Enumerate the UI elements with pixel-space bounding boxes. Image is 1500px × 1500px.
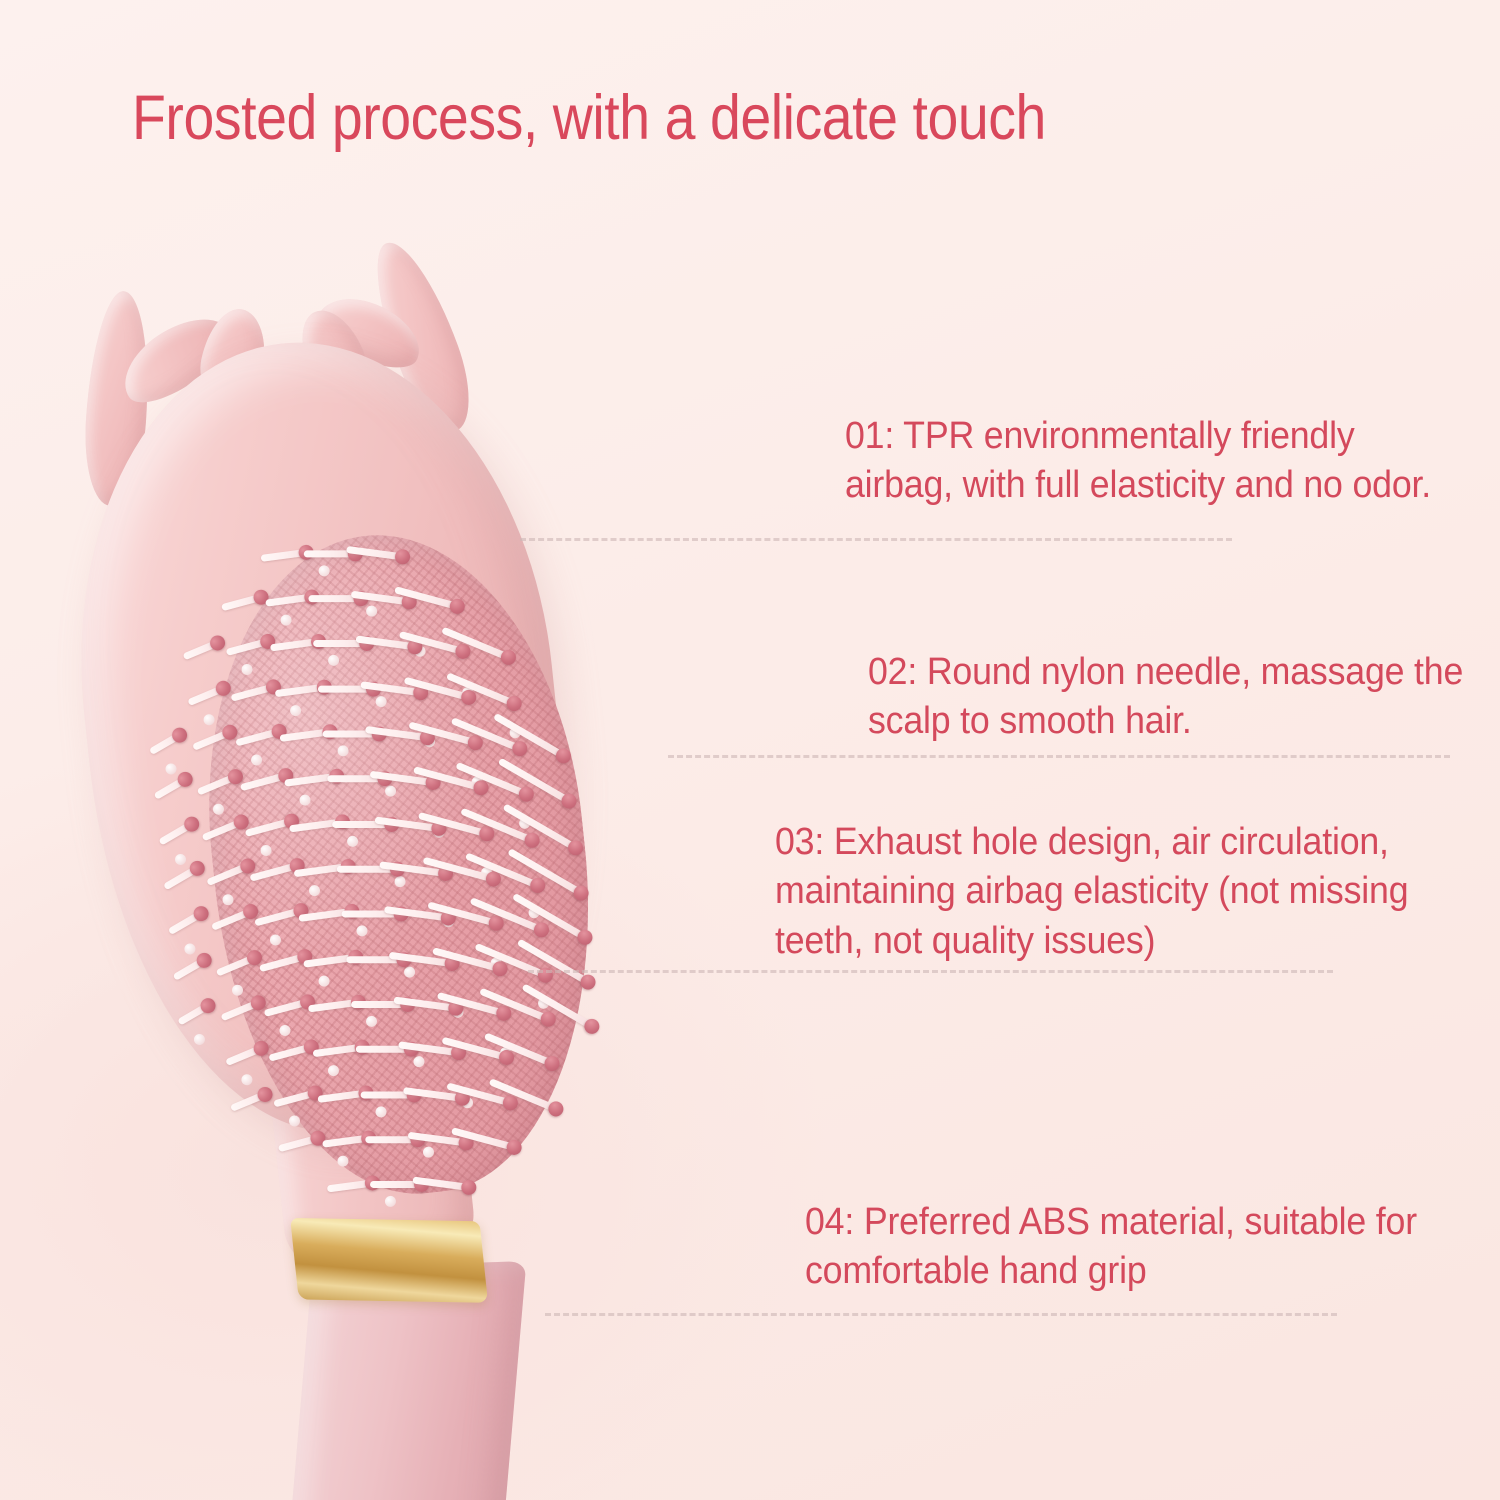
exhaust-hole-nub: [347, 835, 359, 847]
exhaust-hole-nub: [337, 745, 349, 757]
bristle: [250, 862, 301, 882]
bristle: [236, 728, 283, 747]
callout-divider-01: [520, 538, 1232, 541]
bristle: [259, 953, 307, 972]
exhaust-hole-nub: [280, 614, 292, 626]
exhaust-hole-nub: [404, 966, 416, 978]
bristle: [265, 593, 314, 606]
exhaust-hole-nub: [279, 1024, 291, 1036]
bristle: [493, 713, 567, 760]
exhaust-hole-nub: [308, 885, 320, 897]
bristle: [517, 938, 592, 986]
bristle: [216, 954, 257, 977]
callout-divider-03: [528, 970, 1333, 973]
exhaust-hole-nub: [251, 754, 263, 766]
exhaust-hole-nub: [366, 605, 378, 617]
exhaust-hole-nub: [193, 1033, 205, 1045]
bristle: [177, 1002, 211, 1026]
bristle: [172, 956, 207, 980]
exhaust-hole-nub: [203, 713, 215, 725]
callout-divider-04: [545, 1313, 1337, 1316]
bristle: [226, 638, 270, 656]
exhaust-hole-nub: [289, 1115, 301, 1127]
bristle: [231, 683, 276, 702]
exhaust-hole-nub: [174, 853, 186, 865]
bristle-ball-tip: [208, 633, 228, 653]
exhaust-hole-nub: [318, 565, 330, 577]
nylon-bristle-array: [48, 319, 598, 1154]
exhaust-hole-nub: [165, 763, 177, 775]
exhaust-hole-nub: [413, 1056, 425, 1068]
exhaust-hole-nub: [394, 876, 406, 888]
bristle: [220, 999, 260, 1021]
bristle: [240, 772, 288, 791]
feature-callout-03: 03: Exhaust hole design, air circulation…: [775, 818, 1471, 966]
bristle: [264, 998, 311, 1017]
bristle: [197, 773, 238, 796]
bristle: [273, 1089, 317, 1107]
exhaust-hole-nub: [328, 655, 340, 667]
bristle: [183, 639, 221, 660]
exhaust-hole-nub: [184, 943, 196, 955]
bristle: [211, 908, 254, 931]
gold-ferrule-band: [290, 1218, 488, 1303]
bristle: [163, 865, 200, 891]
bristle: [206, 862, 250, 886]
product-image-hair-brush: [0, 166, 869, 1500]
bristle: [187, 684, 226, 706]
exhaust-hole-nub: [318, 975, 330, 987]
bristle: [255, 907, 304, 927]
bristle: [245, 817, 294, 837]
exhaust-hole-nub: [327, 1065, 339, 1077]
exhaust-hole-nub: [289, 704, 301, 716]
exhaust-hole-nub: [356, 925, 368, 937]
feature-callout-01: 01: TPR environmentally friendly airbag,…: [845, 412, 1447, 511]
bristle: [260, 548, 307, 561]
bristle: [221, 593, 264, 611]
bristle: [269, 1043, 314, 1062]
feature-callout-04: 04: Preferred ABS material, suitable for…: [805, 1198, 1444, 1297]
infographic-canvas: Frosted process, with a delicate touch 0…: [0, 0, 1500, 1500]
exhaust-hole-nub: [375, 1106, 387, 1118]
exhaust-hole-nub: [231, 984, 243, 996]
bristle: [158, 820, 194, 845]
bristle: [225, 1045, 264, 1067]
bristle: [149, 731, 183, 755]
bristle: [192, 729, 232, 751]
bristle: [522, 983, 596, 1030]
exhaust-hole-nub: [222, 894, 234, 906]
feature-callout-02: 02: Round nylon needle, massage the scal…: [868, 648, 1470, 747]
bristle: [230, 1090, 268, 1111]
bristle: [167, 910, 203, 935]
exhaust-hole-nub: [299, 794, 311, 806]
page-title: Frosted process, with a delicate touch: [132, 85, 1241, 151]
exhaust-hole-nub: [365, 1015, 377, 1027]
bristle-ball-tip: [395, 548, 412, 565]
bristle: [317, 1089, 367, 1102]
exhaust-hole-nub: [241, 664, 253, 676]
bristle: [489, 1078, 559, 1112]
bristle: [202, 818, 245, 841]
callout-divider-02: [668, 755, 1450, 758]
bristle: [498, 758, 573, 806]
bristle: [446, 672, 517, 707]
bristle: [153, 776, 188, 800]
exhaust-hole-nub: [241, 1074, 253, 1086]
exhaust-hole-nub: [375, 695, 387, 707]
bristle: [270, 638, 320, 651]
exhaust-hole-nub: [260, 844, 272, 856]
exhaust-hole-nub: [270, 934, 282, 946]
exhaust-hole-nub: [212, 804, 224, 816]
exhaust-hole-nub: [385, 785, 397, 797]
